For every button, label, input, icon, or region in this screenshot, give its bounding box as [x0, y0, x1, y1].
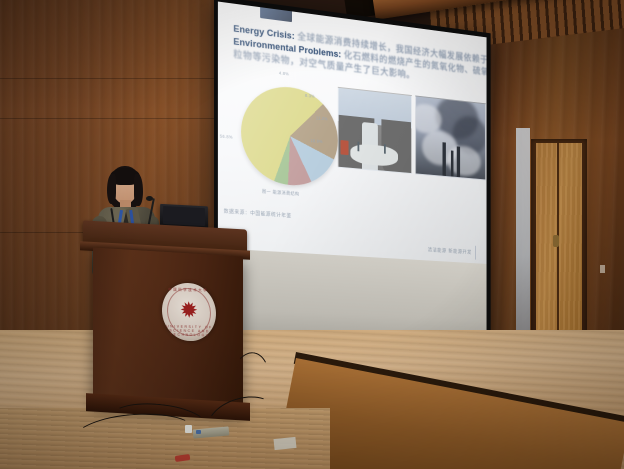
presenter-hair-right [134, 174, 143, 206]
chart-caption: 图一 能源消费结构 [262, 189, 299, 198]
light-switch[interactable] [600, 265, 605, 273]
power-indicator-led [196, 430, 201, 434]
pie-slices [241, 82, 338, 189]
slide-logo-badge [260, 5, 292, 22]
pie-label-4: 4.8% [279, 70, 289, 76]
pie-label-1: 18.9% [310, 138, 322, 144]
laptop-screen [163, 206, 205, 226]
presentation-slide: Energy Crisis: 全球能源消费持续增长，我国经济大幅发展依赖于化石燃… [218, 2, 487, 265]
university-seal-emblem: 中国科学技术大学 ✹ UNIVERSITY OF SCIENCE AND TEC… [161, 282, 217, 341]
emblem-text-top: 中国科学技术大学 [161, 286, 215, 292]
door-frame [531, 139, 587, 335]
projection-screen: Energy Crisis: 全球能源消费持续增长，我国经济大幅发展依赖于化石燃… [214, 0, 491, 349]
chart-source-note: 数据来源：中国能源统计年鉴 [224, 208, 292, 220]
presenter-hair-left [107, 174, 116, 204]
floor-paper [273, 437, 296, 450]
emblem-text-bottom: UNIVERSITY OF SCIENCE AND TECHNOLOGY [162, 324, 216, 337]
slide-footer-rule [475, 246, 476, 260]
lecture-hall-photo: Energy Crisis: 全球能源消费持续增长，我国经济大幅发展依赖于化石燃… [0, 0, 624, 469]
pie-label-0: 56.8% [220, 134, 233, 140]
double-door[interactable] [536, 143, 582, 331]
emblem-mark-icon: ✹ [179, 300, 198, 322]
power-plug [185, 425, 192, 433]
screen-surface: Energy Crisis: 全球能源消费持续增长，我国经济大幅发展依赖于化石燃… [218, 2, 487, 344]
door-handle-icon[interactable] [553, 235, 559, 247]
slide-photo-row [338, 87, 486, 181]
pie-label-3: 8.3% [305, 93, 315, 99]
open-pit-mining-photo [338, 87, 412, 174]
slide-footer-text: 清洁能源 新能源开发 [428, 247, 472, 256]
energy-consumption-pie-chart: 56.8% 18.9% 11.2% 8.3% 4.8% 图一 能源消费结构 [230, 65, 353, 209]
window-sliver [516, 128, 530, 340]
smokestack-emissions-photo [415, 95, 485, 180]
